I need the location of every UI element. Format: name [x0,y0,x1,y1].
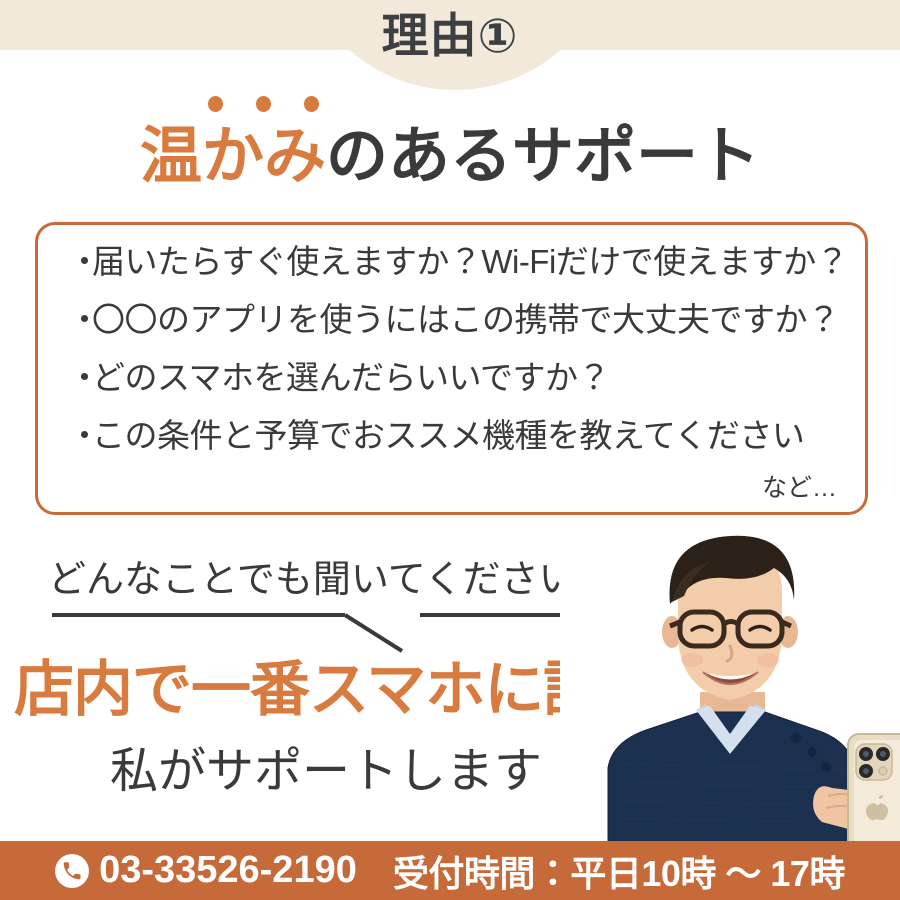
list-item: ・ 届いたらすぐ使えますか？Wi-Fiだけで使えますか？ [68,245,851,278]
business-hours: 受付時間：平日10時 〜 17時 [393,845,845,897]
bullet-mark-icon: ・ [68,419,92,452]
list-item-label: 〇〇のアプリを使うにはこの携帯で大丈夫ですか？ [92,303,851,336]
emphasis-dots [208,96,338,112]
bullet-mark-icon: ・ [68,245,92,278]
emphasis-dot-icon [208,96,223,112]
phone-number[interactable]: 03-33526-2190 [99,849,357,892]
emphasis-dot-icon [256,96,271,112]
bullet-mark-icon: ・ [68,303,92,336]
emphasis-dot-icon [304,96,319,112]
list-item-label: この条件と予算でおススメ機種を教えてください [92,419,851,452]
staff-photo-illustration [560,520,900,841]
question-list-box: ・ 届いたらすぐ使えますか？Wi-Fiだけで使えますか？ ・ 〇〇のアプリを使う… [35,222,868,515]
reason-badge-label: 理由① [0,12,900,59]
list-item: ・ この条件と予算でおススメ機種を教えてください [68,419,851,452]
list-item-label: どのスマホを選んだらいいですか？ [92,361,851,394]
phone-handset-glyph [61,860,83,882]
phone-icon [55,854,89,888]
list-item: ・ 〇〇のアプリを使うにはこの携帯で大丈夫ですか？ [68,303,851,336]
bullet-mark-icon: ・ [68,361,92,394]
page-title-accent: 温かみ [140,122,326,191]
question-list: ・ 届いたらすぐ使えますか？Wi-Fiだけで使えますか？ ・ 〇〇のアプリを使う… [68,245,851,477]
poster-root: 理由① 温かみのあるサポート ・ 届いたらすぐ使えますか？Wi-Fiだけで使えま… [0,0,900,900]
list-item: ・ どのスマホを選んだらいいですか？ [68,361,851,394]
etcetera-label: など… [762,468,837,504]
staff-photo [560,520,900,841]
page-title-rest: のあるサポート [326,122,760,191]
contact-footer-bar: 03-33526-2190 受付時間：平日10時 〜 17時 [0,841,900,900]
claim-subline: 私がサポートします！ [110,748,590,796]
page-title: 温かみのあるサポート [0,124,900,189]
list-item-label: 届いたらすぐ使えますか？Wi-Fiだけで使えますか？ [92,245,851,278]
speech-underline-tail [40,595,600,665]
